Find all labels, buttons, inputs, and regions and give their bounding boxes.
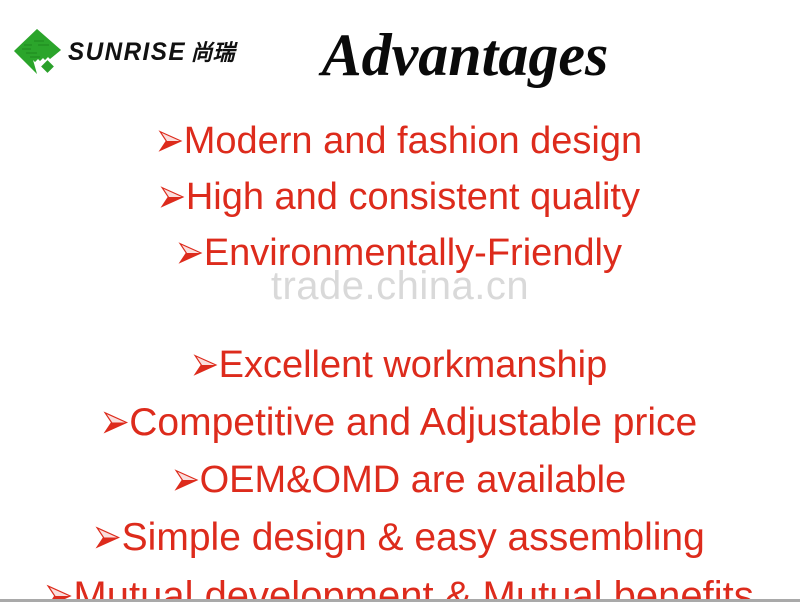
arrowhead-bullet-icon [193, 346, 218, 384]
list-item: High and consistent quality [0, 167, 800, 223]
list-item-label: Simple design & easy assembling [122, 518, 705, 557]
list-item: Modern and fashion design [0, 112, 800, 167]
arrowhead-bullet-icon [158, 122, 183, 160]
list-item-label: Mutual development & Mutual benefits [73, 576, 753, 602]
list-item-label: Competitive and Adjustable price [129, 403, 697, 442]
advantages-list: Modern and fashion design High and consi… [0, 112, 800, 602]
arrowhead-bullet-icon [174, 461, 199, 499]
brand-wordmark: SUNRISE 尚瑞 [68, 40, 235, 65]
advantages-slide: SUNRISE 尚瑞 Advantages trade.china.cn Mod… [0, 0, 800, 602]
sunrise-diamond-logo-icon [12, 26, 64, 78]
list-item-label: OEM&OMD are available [200, 461, 627, 499]
arrowhead-bullet-icon [160, 178, 185, 216]
brand-latin-text: SUNRISE [68, 40, 186, 65]
list-item: Environmentally-Friendly [0, 223, 800, 279]
list-item-label: High and consistent quality [186, 178, 640, 216]
brand-cjk-text: 尚瑞 [191, 43, 235, 65]
list-item-label: Excellent workmanship [219, 346, 608, 384]
list-item-label: Modern and fashion design [184, 122, 642, 160]
list-item: Mutual development & Mutual benefits [0, 564, 800, 602]
arrowhead-bullet-icon [46, 576, 72, 602]
list-item: OEM&OMD are available [0, 449, 800, 506]
slide-header: SUNRISE 尚瑞 Advantages [0, 0, 800, 108]
company-logo: SUNRISE 尚瑞 [12, 26, 235, 78]
arrowhead-bullet-icon [178, 234, 203, 272]
list-item: Competitive and Adjustable price [0, 391, 800, 449]
list-item: Simple design & easy assembling [0, 506, 800, 564]
list-item-label: Environmentally-Friendly [204, 234, 622, 272]
arrowhead-bullet-icon [95, 518, 121, 557]
page-title: Advantages [255, 24, 675, 87]
list-item: Excellent workmanship [0, 279, 800, 391]
arrowhead-bullet-icon [103, 403, 129, 442]
